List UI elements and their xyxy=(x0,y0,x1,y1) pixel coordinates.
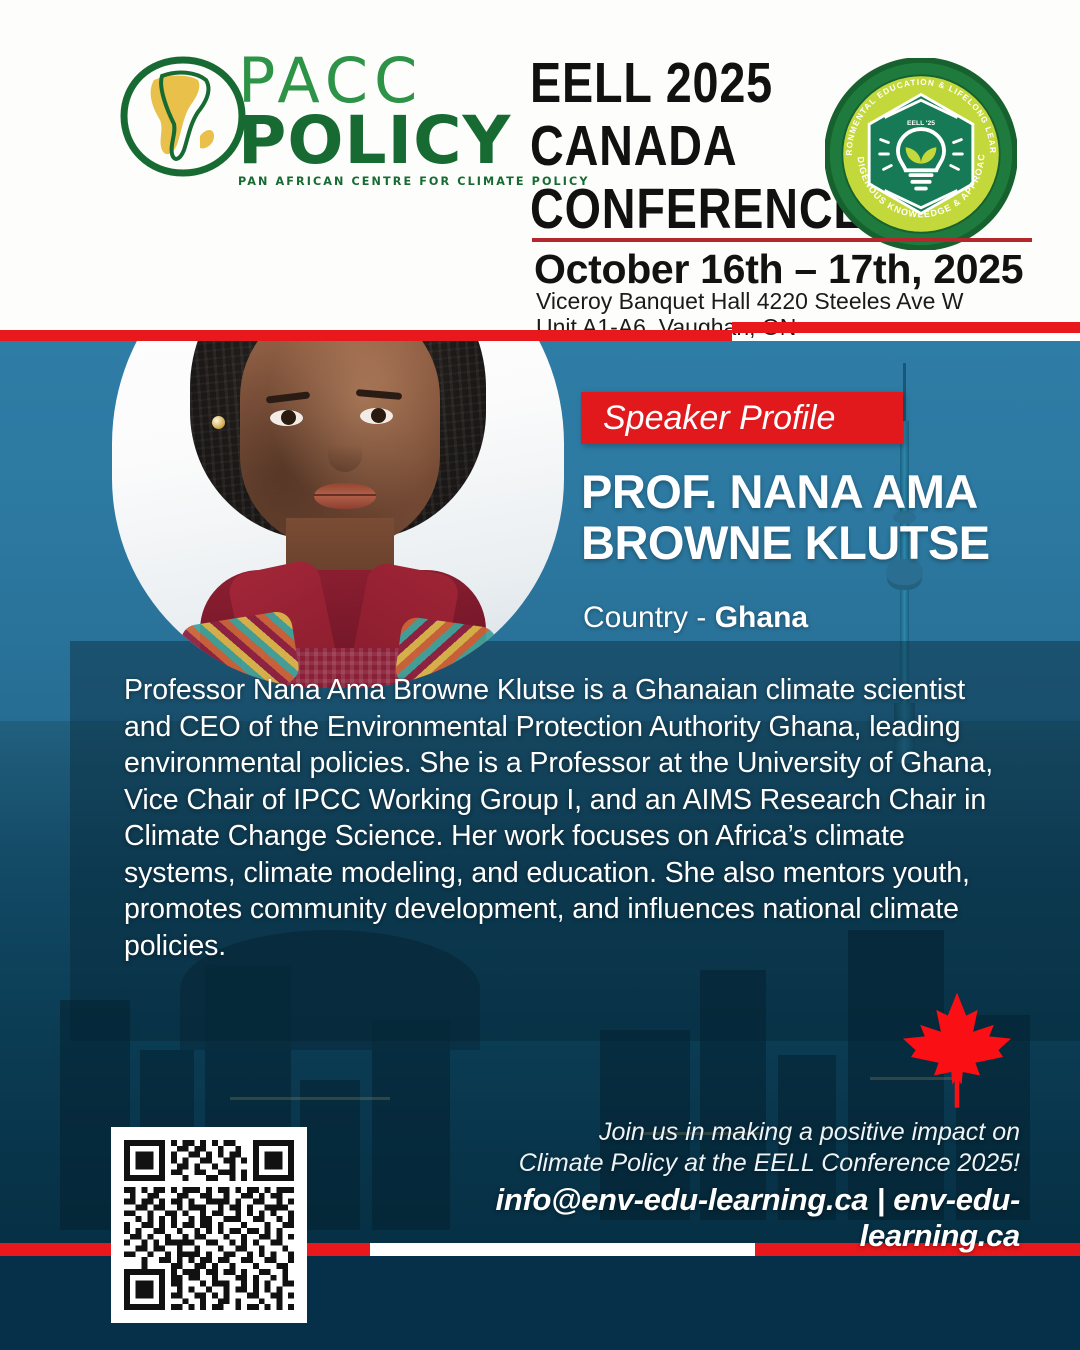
poster-header: PACC POLICY PAN AFRICAN CENTRE FOR CLIMA… xyxy=(0,0,1080,330)
conference-title-line1: EELL 2025 xyxy=(530,52,792,115)
conference-title-line3: CONFERENCE xyxy=(530,178,792,241)
venue-line-1: Viceroy Banquet Hall 4220 Steeles Ave W xyxy=(536,288,1056,314)
speaker-name: PROF. NANA AMA BROWNE KLUTSE xyxy=(581,466,1061,568)
red-divider-right xyxy=(732,322,1080,333)
pacc-policy-logo: PACC POLICY PAN AFRICAN CENTRE FOR CLIMA… xyxy=(118,48,518,193)
country-label: Country - xyxy=(583,601,715,634)
conference-title-line2: CANADA xyxy=(530,115,792,178)
speaker-name-line2: BROWNE KLUTSE xyxy=(581,517,1061,568)
bottom-white-bar xyxy=(370,1243,755,1256)
conference-date: October 16th – 17th, 2025 xyxy=(534,246,1054,293)
country-value: Ghana xyxy=(715,601,808,634)
tagline-line-1: Join us in making a positive impact on xyxy=(480,1117,1020,1148)
africa-circle-icon xyxy=(118,54,248,179)
qr-code[interactable] xyxy=(111,1127,307,1323)
tagline-line-2: Climate Policy at the EELL Conference 20… xyxy=(480,1148,1020,1179)
speaker-profile-label: Speaker Profile xyxy=(603,399,835,438)
conference-title: EELL 2025 CANADA CONFERENCE xyxy=(530,52,792,241)
portrait-earring xyxy=(212,416,225,429)
speaker-profile-banner: Speaker Profile xyxy=(581,392,903,444)
pacc-logo-line2: POLICY xyxy=(238,110,523,172)
eell-conference-badge: ENVIRONMENTAL EDUCATION & LIFELONG LEARN… xyxy=(825,58,1017,250)
maple-leaf-icon xyxy=(898,988,1016,1110)
red-divider-left xyxy=(0,330,732,341)
speaker-country: Country - Ghana xyxy=(583,601,1043,635)
footer-tagline: Join us in making a positive impact on C… xyxy=(480,1117,1020,1179)
speaker-name-line1: PROF. NANA AMA xyxy=(581,466,1061,517)
speaker-bio: Professor Nana Ama Browne Klutse is a Gh… xyxy=(124,672,1004,964)
badge-center-text: EELL '25 xyxy=(907,120,935,127)
pacc-logo-tagline: PAN AFRICAN CENTRE FOR CLIMATE POLICY xyxy=(238,175,523,188)
qr-code-image xyxy=(124,1140,294,1310)
date-divider-rule xyxy=(532,238,1032,242)
